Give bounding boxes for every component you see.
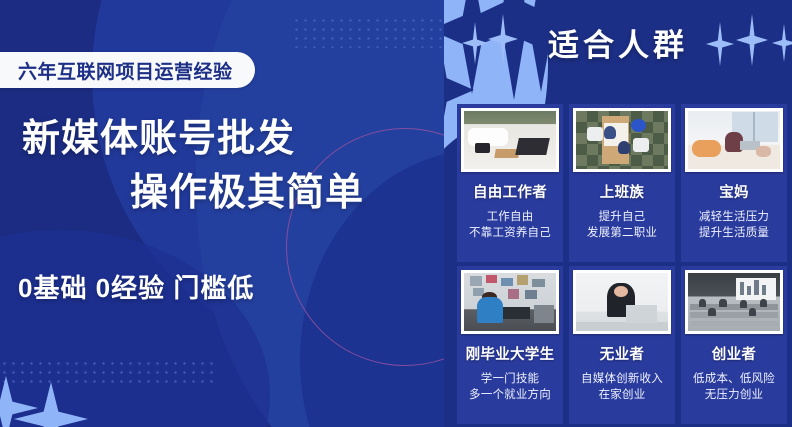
- audience-card[interactable]: 宝妈 减轻生活压力 提升生活质量: [681, 104, 787, 262]
- card-desc-line-2: 不靠工资养自己: [469, 225, 551, 241]
- audience-card[interactable]: 刚毕业大学生 学一门技能 多一个就业方向: [457, 266, 563, 424]
- card-photo-frame: [685, 270, 783, 334]
- card-description: 工作自由 不靠工资养自己: [469, 209, 551, 241]
- stressed-woman-laptop-photo: [576, 273, 668, 331]
- card-desc-line-2: 无压力创业: [693, 387, 775, 403]
- card-desc-line-2: 发展第二职业: [587, 225, 657, 241]
- card-desc-line-2: 提升生活质量: [699, 225, 769, 241]
- card-title: 自由工作者: [473, 181, 547, 202]
- audience-card[interactable]: 上班族 提升自己 发展第二职业: [569, 104, 675, 262]
- office-meeting-topdown-photo: [576, 111, 668, 169]
- card-desc-line-1: 学一门技能: [469, 371, 551, 387]
- audience-card[interactable]: 无业者 自媒体创新收入 在家创业: [569, 266, 675, 424]
- experience-badge-label: 六年互联网项目运营经验: [18, 57, 233, 84]
- card-title: 刚毕业大学生: [466, 343, 555, 364]
- card-desc-line-1: 工作自由: [469, 209, 551, 225]
- student-dorm-computer-photo: [464, 273, 556, 331]
- audience-card[interactable]: 自由工作者 工作自由 不靠工资养自己: [457, 104, 563, 262]
- card-photo-frame: [573, 270, 671, 334]
- card-title: 无业者: [600, 343, 644, 364]
- card-title: 创业者: [712, 343, 756, 364]
- subheadline: 0基础 0经验 门槛低: [18, 268, 254, 305]
- left-panel: 六年互联网项目运营经验 新媒体账号批发 操作极其简单 0基础 0经验 门槛低: [0, 0, 444, 427]
- card-description: 自媒体创新收入 在家创业: [581, 371, 663, 403]
- card-desc-line-1: 低成本、低风险: [693, 371, 775, 387]
- card-photo-frame: [685, 108, 783, 172]
- section-title: 适合人群: [444, 20, 792, 65]
- card-photo-frame: [461, 270, 559, 334]
- dot-grid-bottom: [0, 359, 218, 385]
- card-description: 学一门技能 多一个就业方向: [469, 371, 551, 403]
- card-description: 减轻生活压力 提升生活质量: [699, 209, 769, 241]
- right-panel: 适合人群 自由工作者 工作自由 不靠工资养自己: [444, 0, 792, 427]
- card-photo-frame: [573, 108, 671, 172]
- card-photo-frame: [461, 108, 559, 172]
- card-description: 提升自己 发展第二职业: [587, 209, 657, 241]
- card-title: 宝妈: [719, 181, 749, 202]
- card-desc-line-2: 在家创业: [581, 387, 663, 403]
- card-title: 上班族: [600, 181, 644, 202]
- headline-line-2: 操作极其简单: [0, 166, 430, 220]
- audience-card[interactable]: 创业者 低成本、低风险 无压力创业: [681, 266, 787, 424]
- experience-badge: 六年互联网项目运营经验: [0, 52, 255, 88]
- classroom-lecture-photo: [688, 273, 780, 331]
- audience-card-grid: 自由工作者 工作自由 不靠工资养自己 上班族 提升自己 发展第二职业: [457, 104, 787, 424]
- headline: 新媒体账号批发 操作极其简单: [0, 112, 430, 220]
- mother-with-baby-laptop-photo: [688, 111, 780, 169]
- card-desc-line-2: 多一个就业方向: [469, 387, 551, 403]
- card-desc-line-1: 减轻生活压力: [699, 209, 769, 225]
- card-description: 低成本、低风险 无压力创业: [693, 371, 775, 403]
- card-desc-line-1: 自媒体创新收入: [581, 371, 663, 387]
- dot-grid-top: [292, 16, 444, 48]
- promo-poster: 六年互联网项目运营经验 新媒体账号批发 操作极其简单 0基础 0经验 门槛低 适…: [0, 0, 792, 427]
- card-desc-line-1: 提升自己: [587, 209, 657, 225]
- headline-line-1: 新媒体账号批发: [0, 112, 430, 166]
- bed-with-laptop-photo: [464, 111, 556, 169]
